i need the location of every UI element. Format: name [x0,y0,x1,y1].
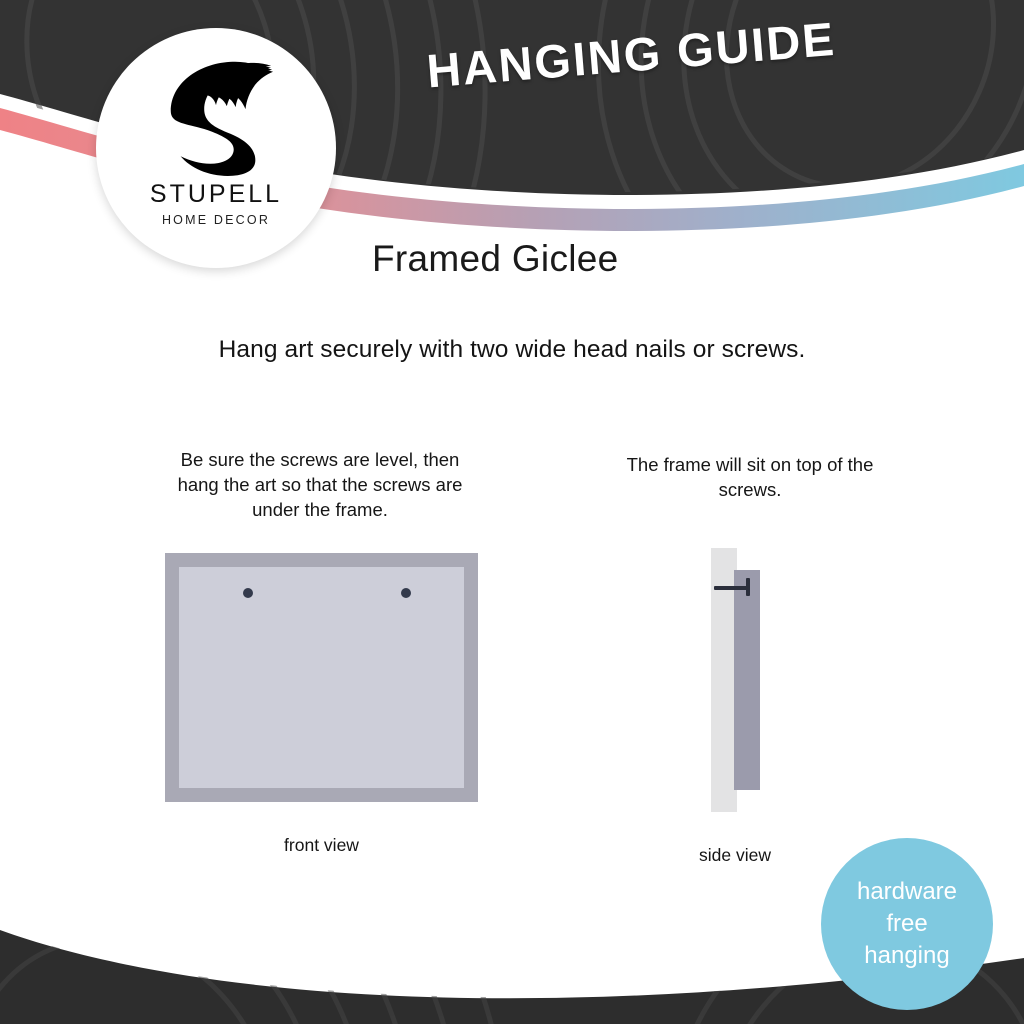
badge-line-1: hardware [857,876,957,908]
side-view-caption: The frame will sit on top of the screws. [600,452,900,502]
side-view-frame [734,570,760,790]
screw-dot-left [243,588,253,598]
screw-dot-right [401,588,411,598]
logo-tagline: HOME DECOR [162,213,270,227]
hardware-free-badge: hardware free hanging [821,838,993,1010]
page-title: HANGING GUIDE [370,6,893,103]
logo-wordmark: STUPELL [150,180,282,209]
stupell-swoosh-icon [157,54,275,176]
front-view-caption: Be sure the screws are level, then hang … [160,447,480,522]
brand-logo-badge: STUPELL HOME DECOR [96,28,336,268]
side-view-label: side view [660,845,810,866]
front-view-frame-inner [179,567,464,788]
badge-line-2: free [886,908,927,940]
main-instruction-text: Hang art securely with two wide head nai… [0,336,1024,364]
nail-head-icon [746,578,750,596]
hanging-guide-page: STUPELL HOME DECOR HANGING GUIDE Framed … [0,0,1024,1024]
front-view-label: front view [165,835,478,856]
front-view-frame-diagram [165,553,478,802]
product-type-title: Framed Giclee [372,238,619,280]
badge-line-3: hanging [864,940,949,972]
nail-icon [714,586,750,590]
